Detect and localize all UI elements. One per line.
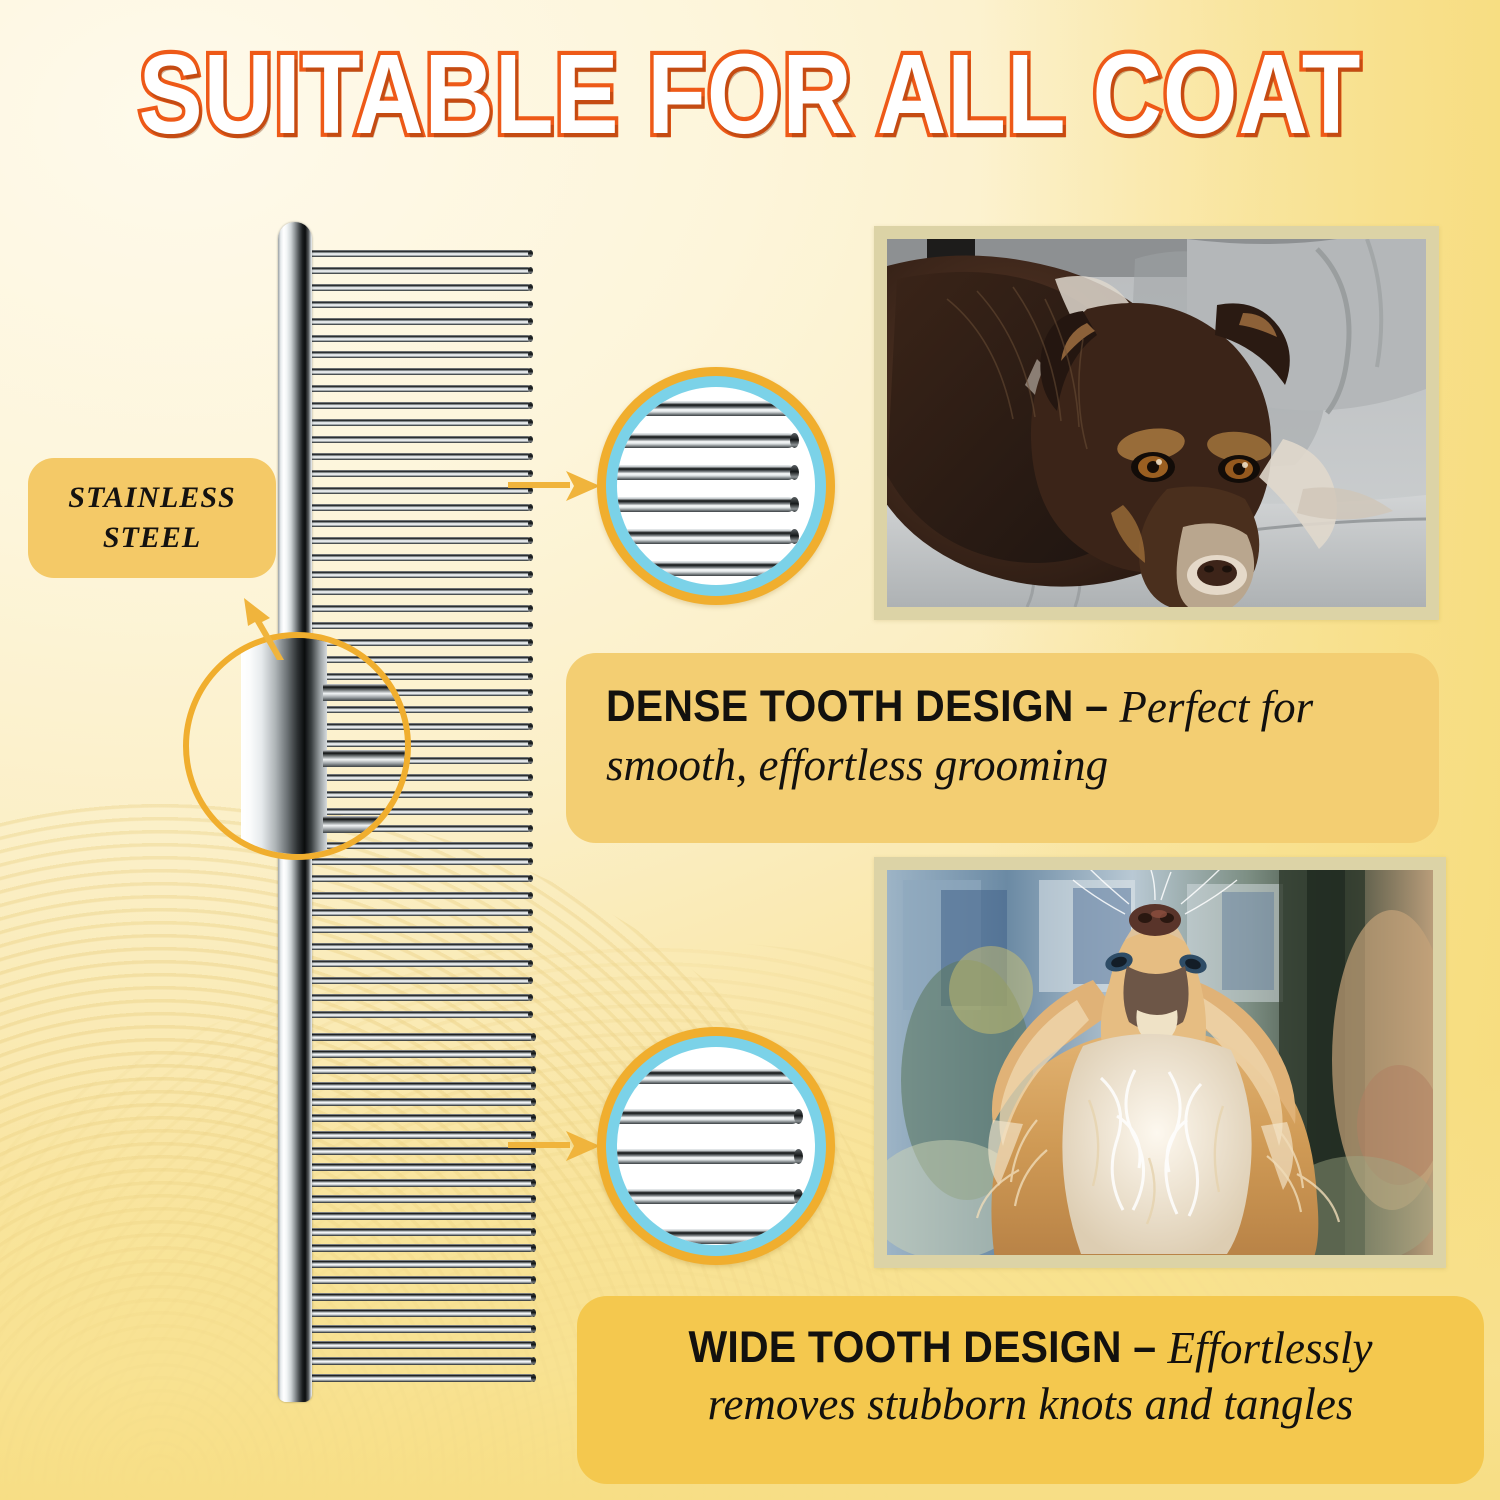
magnifier-tooth-wide (617, 1189, 799, 1204)
comb-tooth-wide (303, 1082, 534, 1090)
wide-tooth-magnifier-content (617, 1047, 815, 1245)
caption-dense-italic-2: smooth, effortless grooming (606, 740, 1108, 790)
arrow-up-right-icon (224, 572, 294, 662)
magnifier-tooth-dense (617, 433, 795, 448)
comb-tooth-wide (303, 1195, 534, 1203)
comb-tooth-wide (303, 1244, 534, 1252)
comb-tooth-wide (303, 1341, 534, 1349)
page-title: SUITABLE FOR ALL COAT (0, 36, 1500, 155)
caption-wide: WIDE TOOTH DESIGN – Effortlessly removes… (577, 1296, 1484, 1484)
handle-zoom-tooth (323, 750, 411, 767)
comb-tooth-wide (303, 1293, 534, 1301)
comb-tooth-wide (303, 1098, 534, 1106)
caption-dense-bold: DENSE TOOTH DESIGN – (606, 681, 1108, 732)
arrow-right-icon-wide (508, 1126, 608, 1166)
comb-tooth-wide (303, 1228, 534, 1236)
comb-tooth-wide (303, 1050, 534, 1058)
caption-dense-line2: smooth, effortless grooming (606, 739, 1405, 791)
magnifier-tooth-wide (617, 1149, 799, 1164)
comb-tooth-wide (303, 1066, 534, 1074)
caption-wide-italic-2: removes stubborn knots and tangles (708, 1379, 1354, 1429)
comb-tooth-wide (303, 1276, 534, 1284)
stainless-steel-badge: STAINLESS STEEL (28, 458, 276, 578)
comb-tooth-wide (303, 1131, 534, 1139)
comb-tooth-wide (303, 1357, 534, 1365)
dense-tooth-magnifier-content (617, 387, 815, 585)
handle-zoom-content (183, 632, 411, 860)
comb-tooth-wide (303, 1212, 534, 1220)
handle-zoom-circle (183, 632, 411, 860)
wide-tooth-magnifier (597, 1027, 835, 1265)
magnifier-tooth-dense (617, 497, 795, 512)
infographic-canvas: SUITABLE FOR ALL COAT STAINLESS STEEL (0, 0, 1500, 1500)
arrow-right-icon-dense (508, 466, 608, 506)
magnifier-tooth-dense (617, 561, 795, 576)
photo-dog-resting-frame (874, 226, 1439, 620)
comb-tooth-wide (303, 1114, 534, 1122)
magnifier-tooth-wide (617, 1229, 799, 1244)
stainless-steel-label: STAINLESS STEEL (68, 478, 235, 557)
comb-tooth-wide (303, 1147, 534, 1155)
magnifier-tooth-dense (617, 529, 795, 544)
caption-dense-italic-1: Perfect for (1108, 682, 1313, 732)
comb-tooth-wide (303, 1325, 534, 1333)
magnifier-tooth-wide (617, 1069, 799, 1084)
comb-tooth-wide (303, 1374, 534, 1382)
caption-wide-bold: WIDE TOOTH DESIGN – (689, 1322, 1157, 1373)
handle-zoom-tooth (323, 684, 411, 701)
comb-tooth-wide (303, 1163, 534, 1171)
magnifier-tooth-dense (617, 465, 795, 480)
caption-dense-line1: DENSE TOOTH DESIGN – Perfect for (606, 681, 1405, 733)
photo-dog-looking-up-frame (874, 857, 1446, 1268)
comb-tooth-wide (303, 1309, 534, 1317)
comb-tooth-wide (303, 1260, 534, 1268)
magnifier-tooth-dense (617, 401, 795, 416)
magnifier-tooth-wide (617, 1109, 799, 1124)
dense-tooth-magnifier (597, 367, 835, 605)
comb-tooth-wide (303, 1033, 534, 1041)
caption-dense: DENSE TOOTH DESIGN – Perfect for smooth,… (566, 653, 1439, 843)
caption-wide-italic-1: Effortlessly (1156, 1323, 1372, 1373)
handle-zoom-spine (241, 632, 327, 860)
photo-dog-looking-up (887, 870, 1433, 1255)
caption-wide-line2: removes stubborn knots and tangles (597, 1378, 1464, 1430)
photo-dog-resting (887, 239, 1426, 607)
handle-zoom-tooth (323, 816, 411, 833)
caption-wide-line1: WIDE TOOTH DESIGN – Effortlessly (597, 1322, 1464, 1374)
comb-tooth-wide (303, 1179, 534, 1187)
